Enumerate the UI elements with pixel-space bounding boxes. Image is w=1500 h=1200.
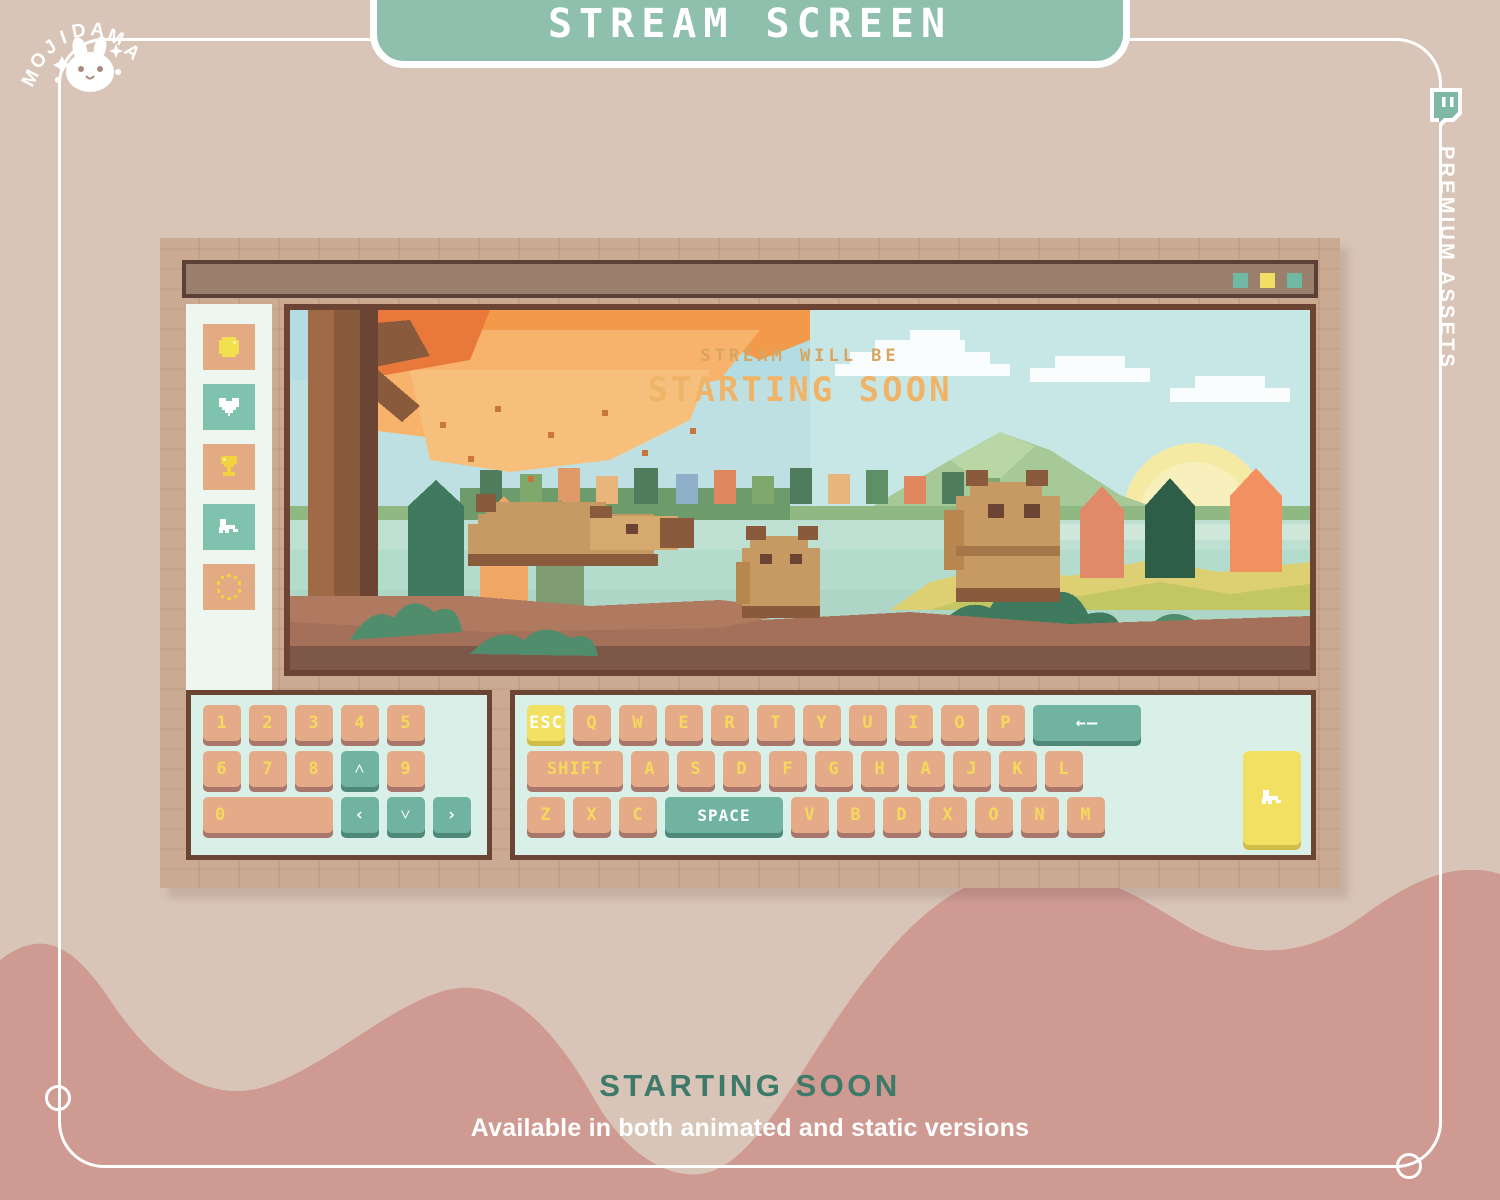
key-x[interactable]: X	[573, 797, 611, 833]
key-0[interactable]: 0	[203, 797, 333, 833]
stream-status-text: STREAM WILL BE STARTING SOON	[290, 346, 1310, 410]
key-z[interactable]: Z	[527, 797, 565, 833]
key-esc[interactable]: ESC	[527, 705, 565, 741]
key-g[interactable]: G	[815, 751, 853, 787]
keyboard-row-2: SHIFT A S D F G H A J K L	[515, 751, 1311, 787]
key-t[interactable]: T	[757, 705, 795, 741]
coin-icon	[214, 333, 244, 361]
key-y[interactable]: Y	[803, 705, 841, 741]
trophy-icon	[215, 453, 243, 481]
key-f[interactable]: F	[769, 751, 807, 787]
key-3[interactable]: 3	[295, 705, 333, 741]
key-space[interactable]: SPACE	[665, 797, 783, 833]
sidebar-item-loading[interactable]	[203, 564, 255, 610]
keyboard-row-3: Z X C SPACE V B D X O N M	[515, 797, 1311, 833]
key-8[interactable]: 8	[295, 751, 333, 787]
svg-text:I: I	[58, 27, 70, 49]
key-d[interactable]: D	[723, 751, 761, 787]
key-b[interactable]: B	[837, 797, 875, 833]
key-a[interactable]: A	[631, 751, 669, 787]
numpad-row-3: 0 ‹ ˅ ›	[191, 797, 487, 833]
premium-assets-label: PREMIUM ASSETS	[1435, 146, 1458, 370]
stream-scene-frame: STREAM WILL BE STARTING SOON	[284, 304, 1316, 676]
stream-status-line2: STARTING SOON	[290, 370, 1310, 410]
key-x2[interactable]: X	[929, 797, 967, 833]
caption-title: STARTING SOON	[0, 1068, 1500, 1104]
key-c[interactable]: C	[619, 797, 657, 833]
numpad-row-1: 1 2 3 4 5	[191, 705, 487, 741]
arrow-left-key[interactable]: ‹	[341, 797, 379, 833]
bottom-caption: STARTING SOON Available in both animated…	[0, 1068, 1500, 1143]
background-wave-decoration	[0, 870, 1500, 1200]
arrow-right-key[interactable]: ›	[433, 797, 471, 833]
key-5[interactable]: 5	[387, 705, 425, 741]
page-header-banner: STREAM SCREEN	[370, 0, 1130, 68]
window-sidebar	[186, 304, 272, 704]
numpad-keyboard: 1 2 3 4 5 6 7 8 ˄ 9 0 ‹ ˅ ›	[186, 690, 492, 860]
key-s[interactable]: S	[677, 751, 715, 787]
key-9[interactable]: 9	[387, 751, 425, 787]
key-o2[interactable]: O	[975, 797, 1013, 833]
window-dot-maximize[interactable]	[1260, 273, 1275, 288]
key-2[interactable]: 2	[249, 705, 287, 741]
stream-scene: STREAM WILL BE STARTING SOON	[290, 310, 1310, 670]
caption-subtitle: Available in both animated and static ve…	[0, 1114, 1500, 1143]
key-k[interactable]: K	[999, 751, 1037, 787]
arrow-down-key[interactable]: ˅	[387, 797, 425, 833]
key-m[interactable]: M	[1067, 797, 1105, 833]
premium-assets-rail: PREMIUM ASSETS	[1416, 86, 1476, 370]
brand-logo: M O J I D A M A	[18, 14, 168, 108]
key-l[interactable]: L	[1045, 751, 1083, 787]
key-a2[interactable]: A	[907, 751, 945, 787]
capybara-face-icon	[215, 515, 243, 539]
key-4[interactable]: 4	[341, 705, 379, 741]
key-7[interactable]: 7	[249, 751, 287, 787]
keyboard-row-1: ESC Q W E R T Y U I O P ←—	[515, 705, 1311, 741]
key-w[interactable]: W	[619, 705, 657, 741]
main-keyboard: ESC Q W E R T Y U I O P ←— SHIFT A S D F…	[510, 690, 1316, 860]
key-j[interactable]: J	[953, 751, 991, 787]
key-shift[interactable]: SHIFT	[527, 751, 623, 787]
stream-screen-window: STREAM WILL BE STARTING SOON 1 2 3 4 5 6…	[160, 238, 1340, 888]
key-i[interactable]: I	[895, 705, 933, 741]
loading-dots-circle-icon	[214, 572, 244, 602]
key-r[interactable]: R	[711, 705, 749, 741]
key-p[interactable]: P	[987, 705, 1025, 741]
svg-text:A: A	[120, 40, 144, 65]
numpad-row-2: 6 7 8 ˄ 9	[191, 751, 487, 787]
twitch-icon	[1426, 86, 1466, 130]
key-h[interactable]: H	[861, 751, 899, 787]
sidebar-item-coin[interactable]	[203, 324, 255, 370]
window-dot-minimize[interactable]	[1233, 273, 1248, 288]
sidebar-item-favorites[interactable]	[203, 384, 255, 430]
capybara-face-icon	[1258, 786, 1286, 810]
key-u[interactable]: U	[849, 705, 887, 741]
key-1[interactable]: 1	[203, 705, 241, 741]
heart-icon	[215, 394, 243, 420]
key-v[interactable]: V	[791, 797, 829, 833]
key-d2[interactable]: D	[883, 797, 921, 833]
window-controls	[1233, 273, 1302, 288]
key-q[interactable]: Q	[573, 705, 611, 741]
window-dot-close[interactable]	[1287, 273, 1302, 288]
sidebar-item-capybara[interactable]	[203, 504, 255, 550]
key-o[interactable]: O	[941, 705, 979, 741]
arrow-up-key[interactable]: ˄	[341, 751, 379, 787]
stream-status-line1: STREAM WILL BE	[290, 346, 1310, 366]
page-title: STREAM SCREEN	[548, 1, 952, 47]
sidebar-item-achievements[interactable]	[203, 444, 255, 490]
frame-dot-right	[1396, 1153, 1422, 1179]
window-titlebar	[182, 260, 1318, 298]
key-6[interactable]: 6	[203, 751, 241, 787]
backspace-key[interactable]: ←—	[1033, 705, 1141, 741]
key-n[interactable]: N	[1021, 797, 1059, 833]
enter-key[interactable]	[1243, 751, 1301, 845]
key-e[interactable]: E	[665, 705, 703, 741]
